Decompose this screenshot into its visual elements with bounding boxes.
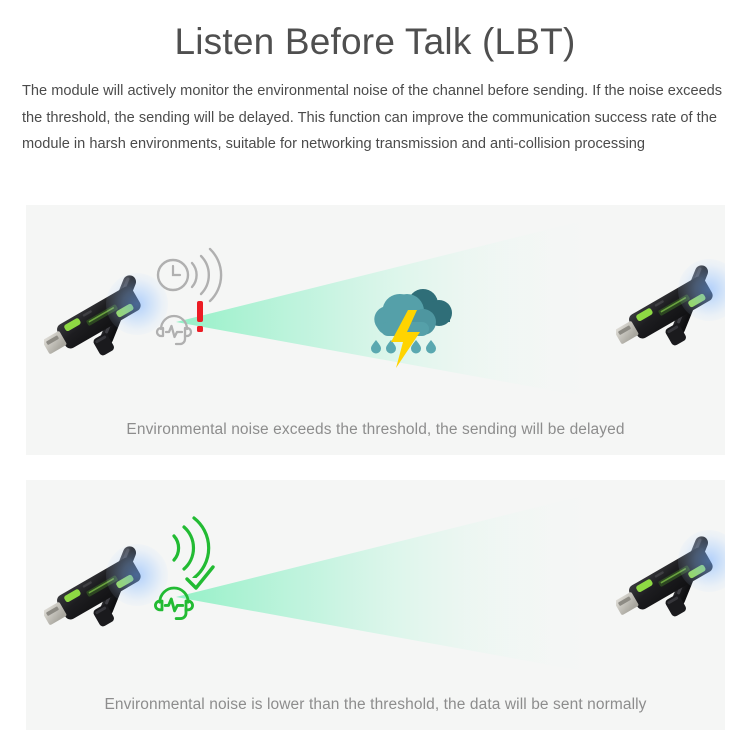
panel-exceeds-threshold: Environmental noise exceeds the threshol… — [26, 205, 725, 455]
panel-caption: Environmental noise is lower than the th… — [26, 696, 725, 714]
alert-exclamation-icon — [192, 301, 208, 335]
lora-usb-module-receiver — [616, 528, 725, 638]
lora-usb-module-sender — [44, 267, 174, 377]
lbt-infographic-page: Listen Before Talk (LBT) The module will… — [0, 0, 750, 750]
intro-paragraph: The module will actively monitor the env… — [22, 78, 728, 158]
scene-below-threshold — [26, 480, 725, 675]
panel-caption: Environmental noise exceeds the threshol… — [26, 421, 725, 439]
page-title: Listen Before Talk (LBT) — [0, 0, 750, 64]
scene-exceeds-threshold — [26, 205, 725, 400]
lora-usb-module-receiver — [616, 257, 725, 367]
lora-usb-module-sender — [44, 538, 174, 648]
check-success-icon — [183, 564, 217, 594]
panel-below-threshold: Environmental noise is lower than the th… — [26, 480, 725, 730]
transmission-cone — [176, 485, 596, 675]
storm-cloud-lightning-icon — [363, 280, 463, 372]
